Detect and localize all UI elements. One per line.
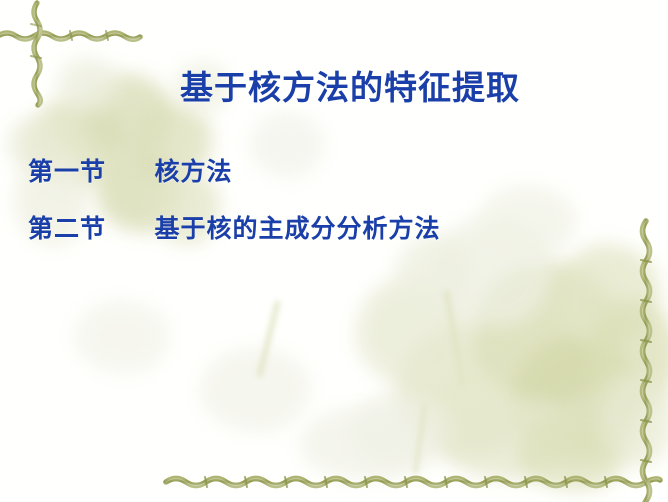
watermark-stem bbox=[257, 301, 281, 378]
toc-section-title: 核方法 bbox=[155, 159, 233, 188]
top-left-horizontal-rule-icon bbox=[0, 31, 140, 40]
watermark-blob bbox=[440, 396, 568, 480]
right-vertical-rule-icon bbox=[641, 221, 651, 502]
watermark-blob bbox=[74, 300, 170, 374]
watermark-blob bbox=[470, 262, 620, 402]
toc-section-number: 第一节 bbox=[28, 159, 106, 188]
watermark-blob bbox=[512, 336, 644, 462]
toc-item-1: 第一节 核方法 bbox=[28, 159, 233, 188]
watermark-blob bbox=[356, 276, 474, 388]
toc-section-title: 基于核的主成分分析方法 bbox=[155, 216, 441, 245]
toc-item-2: 第二节 基于核的主成分分析方法 bbox=[28, 216, 441, 245]
bottom-horizontal-rule-icon bbox=[166, 477, 660, 487]
watermark-stem bbox=[413, 404, 427, 474]
watermark-blob bbox=[556, 244, 660, 346]
watermark-blob bbox=[430, 218, 554, 326]
watermark-blob bbox=[300, 408, 420, 480]
watermark-stem bbox=[444, 290, 466, 385]
watermark-blob bbox=[600, 372, 668, 466]
watermark-blob bbox=[478, 186, 576, 258]
presentation-slide: 基于核方法的特征提取 第一节 核方法 第二节 基于核的主成分分析方法 bbox=[0, 0, 668, 502]
watermark-blob bbox=[58, 58, 118, 112]
watermark-blob bbox=[250, 112, 324, 178]
watermark-blob bbox=[352, 392, 448, 472]
watermark-blob bbox=[200, 348, 310, 432]
toc-section-number: 第二节 bbox=[28, 216, 106, 245]
watermark-blob bbox=[588, 300, 668, 410]
page-title: 基于核方法的特征提取 bbox=[150, 71, 550, 107]
watermark-blob bbox=[516, 414, 628, 490]
watermark-blob bbox=[396, 326, 536, 458]
watermark-blob bbox=[396, 236, 472, 306]
top-left-vertical-rule-icon bbox=[31, 3, 41, 105]
